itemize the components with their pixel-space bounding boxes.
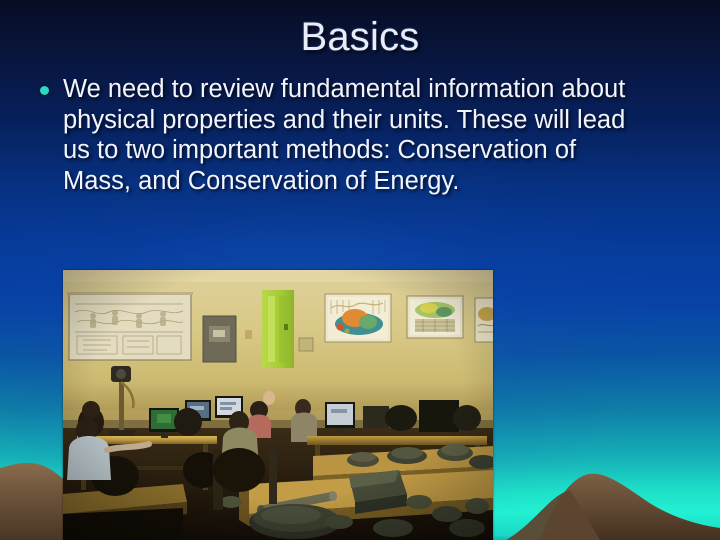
lab-classroom-photo [63,270,493,540]
presentation-slide: Basics We need to review fundamental inf… [0,0,720,540]
bullet-list-item: We need to review fundamental informatio… [36,74,636,196]
bullet-dot-icon [40,86,49,95]
slide-title: Basics [0,14,720,60]
slide-body: We need to review fundamental informatio… [36,74,636,196]
bullet-text: We need to review fundamental informatio… [63,74,636,196]
photo-content [63,270,493,540]
